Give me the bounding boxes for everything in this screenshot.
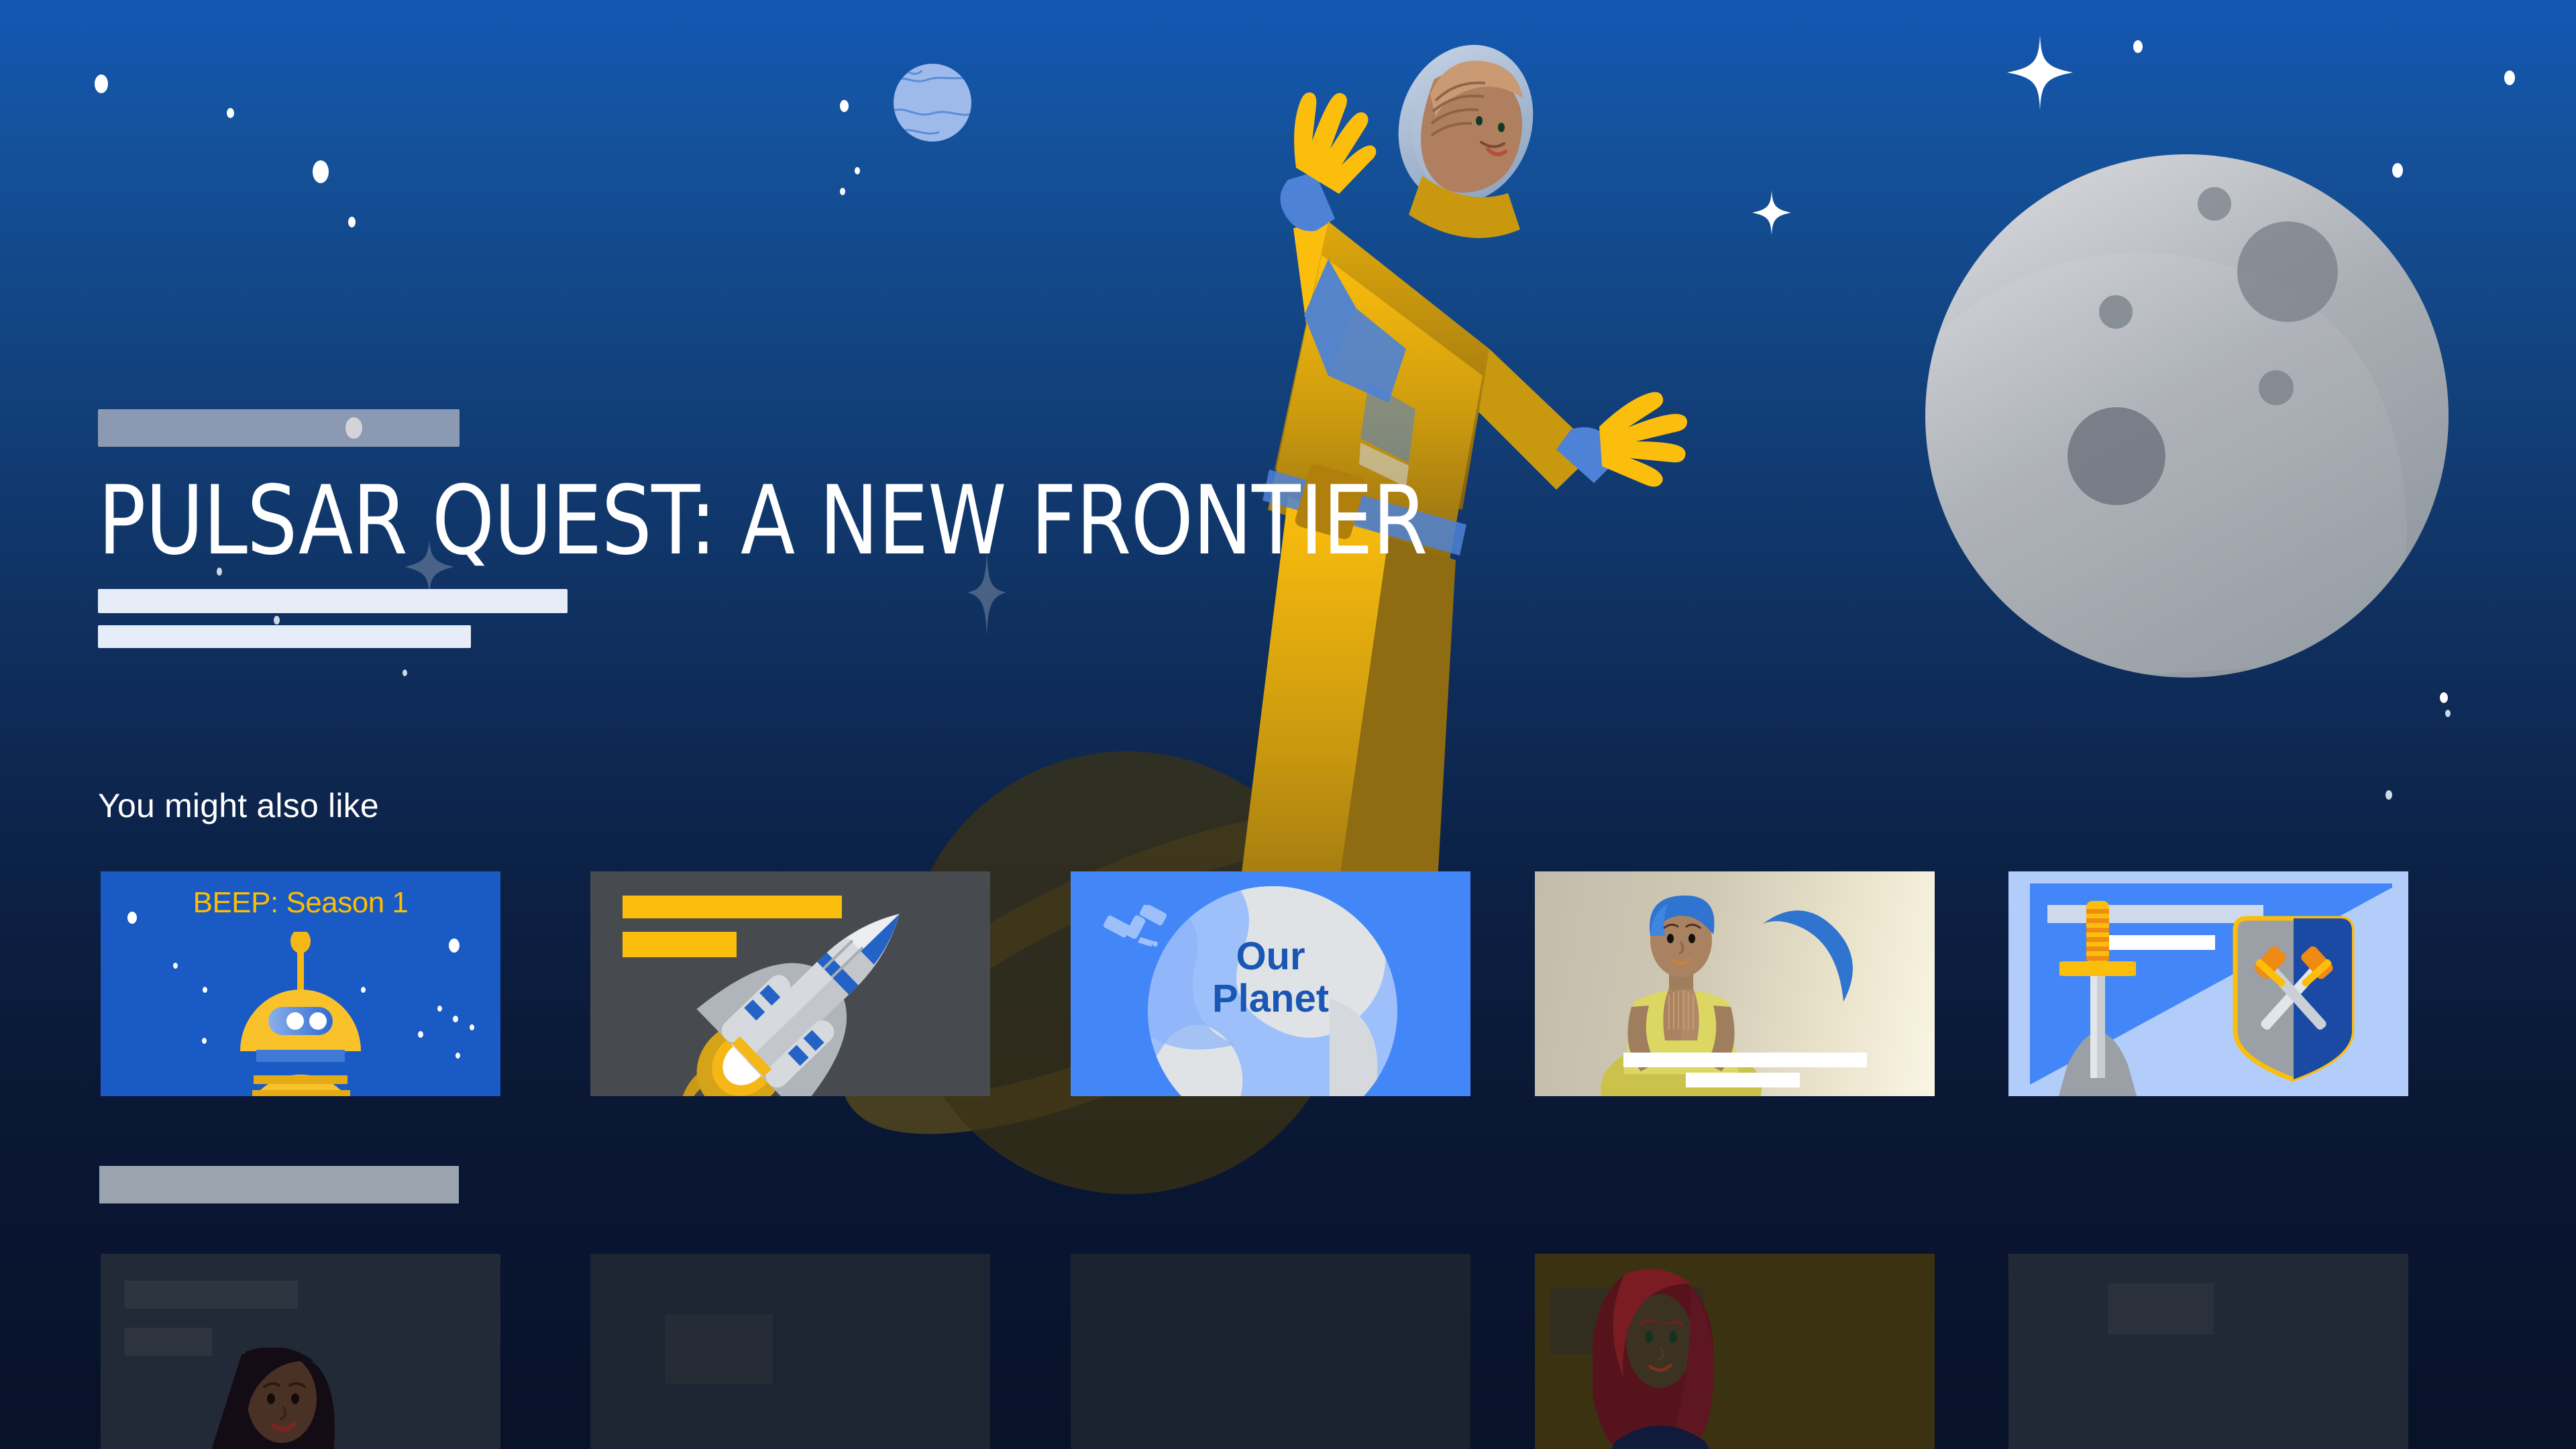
hero-eyebrow-placeholder (98, 409, 460, 447)
row-2-label-placeholder (99, 1166, 459, 1203)
star-icon (455, 1053, 460, 1059)
hero-block: PULSAR QUEST: A NEW FRONTIER (98, 409, 2043, 648)
star-icon (348, 217, 356, 227)
star-icon (2445, 710, 2451, 717)
red-hair-woman-portrait-icon (1593, 1266, 1727, 1449)
page-title: PULSAR QUEST: A NEW FRONTIER (98, 472, 1907, 570)
star-icon (173, 963, 178, 969)
card-rocket-launch[interactable] (590, 871, 990, 1096)
card-placeholder-2[interactable] (590, 1254, 990, 1449)
star-icon (449, 938, 460, 953)
star-icon (227, 108, 234, 118)
card-our-planet-title: Our Planet (1071, 936, 1470, 1020)
star-icon (2504, 70, 2515, 85)
card-our-planet[interactable]: Our Planet (1071, 871, 1470, 1096)
card-sword-and-shield[interactable] (2008, 871, 2408, 1096)
star-icon (453, 1016, 458, 1022)
crescent-moon-icon (1763, 901, 1857, 1002)
card-beep-title: BEEP: Season 1 (101, 886, 500, 920)
card-meditation-title-placeholder (1623, 1053, 1867, 1067)
star-icon (402, 669, 407, 676)
star-icon (95, 74, 108, 93)
star-icon (313, 160, 329, 183)
hero-eyebrow-dot (345, 417, 362, 439)
row-label-you-might-also-like: You might also like (98, 786, 379, 825)
star-icon (2385, 790, 2392, 800)
star-icon (2440, 692, 2448, 703)
card-placeholder-1-subtitle (125, 1328, 212, 1356)
star-icon (840, 100, 849, 112)
star-icon (437, 1006, 442, 1012)
star-icon (202, 1038, 207, 1044)
card-placeholder-3[interactable] (1071, 1254, 1470, 1449)
card-beep-season-1[interactable]: BEEP: Season 1 (101, 871, 500, 1096)
crest-shield-icon (2230, 912, 2357, 1086)
star-icon (470, 1024, 474, 1030)
hero-description-line-1-placeholder (98, 589, 568, 613)
sword-in-stone-icon (2047, 897, 2148, 1096)
woman-portrait-icon (201, 1348, 369, 1449)
rocket-icon (644, 878, 990, 1096)
star-icon (203, 987, 207, 993)
card-meditation[interactable] (1535, 871, 1935, 1096)
robot-icon (213, 932, 388, 1096)
card-placeholder-5[interactable] (2008, 1254, 2408, 1449)
star-icon (418, 1031, 423, 1038)
card-placeholder-4[interactable] (1535, 1254, 1935, 1449)
star-icon (840, 188, 845, 195)
card-placeholder-2-title (665, 1314, 773, 1384)
sparkle-star-icon (2003, 32, 2077, 113)
hero-description-line-2-placeholder (98, 625, 471, 648)
card-placeholder-1[interactable] (101, 1254, 500, 1449)
card-meditation-subtitle-placeholder (1686, 1073, 1800, 1087)
card-placeholder-1-title (125, 1281, 298, 1309)
card-placeholder-5-title (2108, 1283, 2214, 1334)
star-icon (2133, 40, 2143, 53)
